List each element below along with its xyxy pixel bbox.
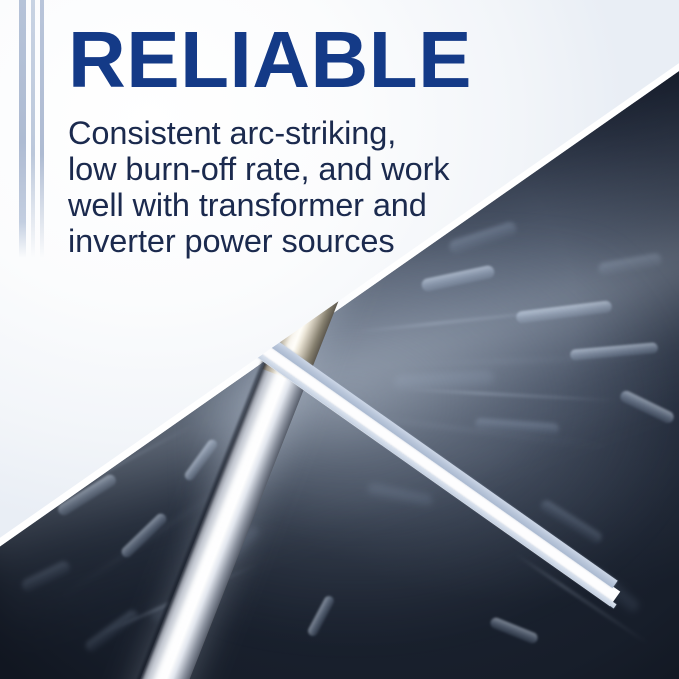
accent-line-1 xyxy=(19,0,26,258)
description-line-3: well with transformer and xyxy=(68,187,538,223)
page-title: RELIABLE xyxy=(68,22,538,99)
accent-line-3 xyxy=(40,0,44,258)
description-line-2: low burn-off rate, and work xyxy=(68,151,538,187)
description-line-1: Consistent arc-striking, xyxy=(68,115,538,151)
accent-line-2 xyxy=(31,0,35,258)
vertical-accent-lines xyxy=(0,0,70,258)
product-feature-banner: RELIABLE Consistent arc-striking, low bu… xyxy=(0,0,679,679)
